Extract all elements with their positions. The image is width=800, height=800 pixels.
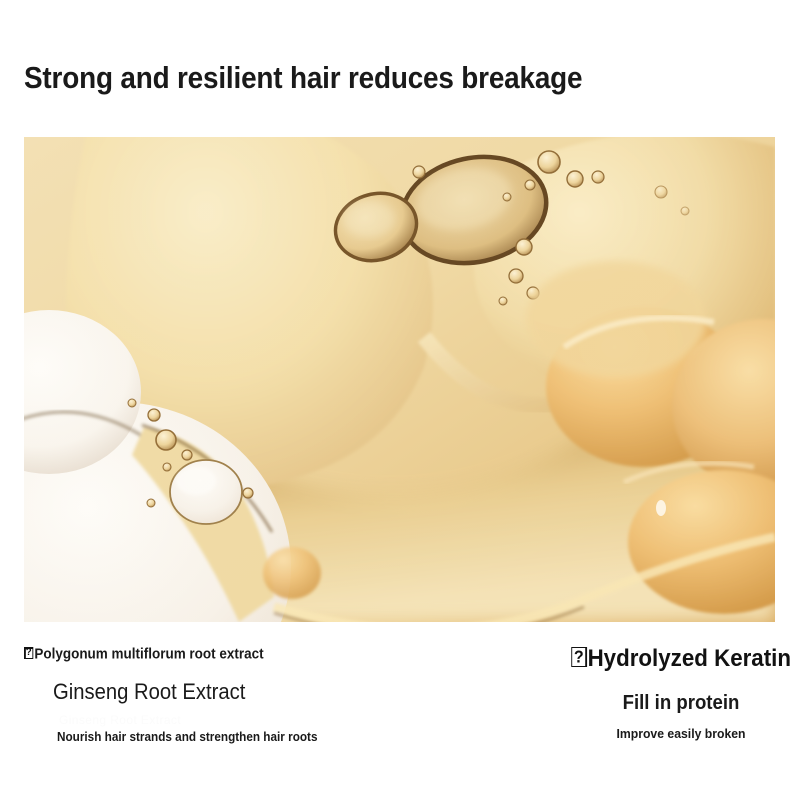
ingredient-left-ghost-text: Ginseng Root Extract	[59, 714, 454, 727]
page-title: Strong and resilient hair reduces breaka…	[24, 60, 582, 96]
ingredient-right-title-text: Hydrolyzed Keratin	[588, 645, 791, 672]
ingredient-left-title: Polygonum multiflorum root extract	[24, 647, 424, 664]
oil-bubbles-illustration	[24, 137, 775, 622]
ingredient-block-right: Hydrolyzed Keratin Fill in protein Impro…	[562, 646, 800, 741]
ingredient-left-title-text: Polygonum multiflorum root extract	[34, 647, 263, 663]
ingredient-left-subtitle: Ginseng Root Extract	[53, 680, 422, 704]
ingredient-right-title: Hydrolyzed Keratin	[570, 646, 791, 671]
missing-glyph-icon	[571, 647, 587, 668]
ingredient-block-left: Polygonum multiflorum root extract Ginse…	[24, 647, 454, 745]
ingredient-right-description: Improve easily broken	[569, 727, 793, 741]
ingredient-left-description: Nourish hair strands and strengthen hair…	[57, 731, 430, 745]
missing-glyph-icon	[24, 647, 33, 659]
product-ingredient-photo	[24, 137, 775, 622]
ingredient-right-subtitle: Fill in protein	[570, 693, 791, 714]
